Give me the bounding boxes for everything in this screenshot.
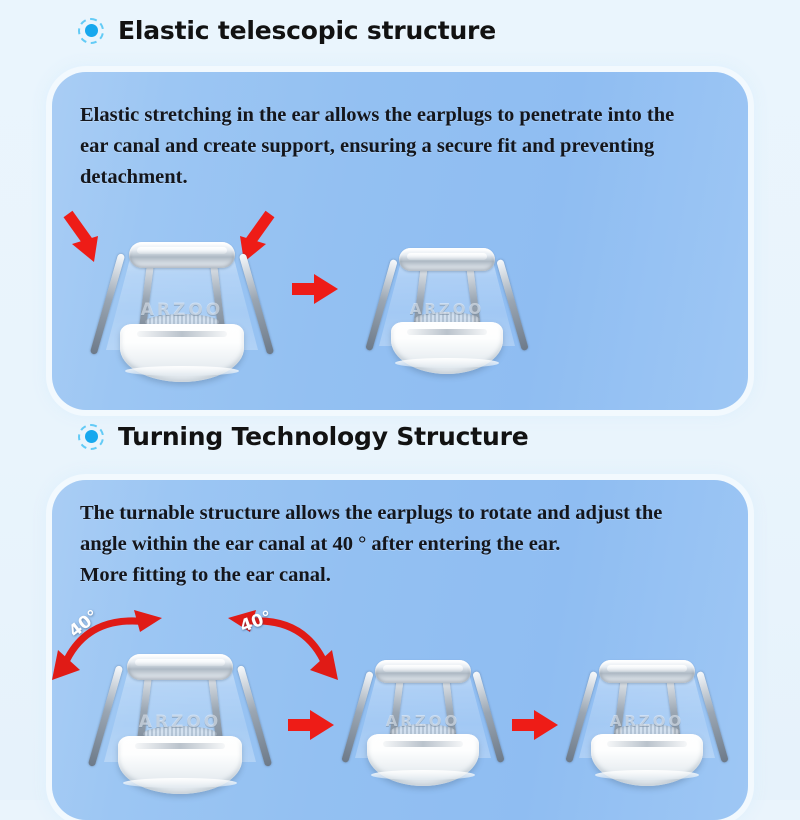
radio-dot-icon	[78, 18, 104, 44]
radio-dot-icon	[78, 424, 104, 450]
radio-dot-center	[85, 430, 98, 443]
section-1-illustration: ARZOO ARZOO	[52, 212, 748, 410]
product-earplug-expanded: ARZOO	[98, 240, 266, 386]
earplug-base	[591, 734, 703, 786]
section-1-body-line-2: ear canal and create support, ensuring a…	[80, 131, 726, 162]
section-2-body-line-1: The turnable structure allows the earplu…	[80, 498, 726, 529]
section-2-body: The turnable structure allows the earplu…	[80, 498, 726, 591]
silicone-top-rim	[599, 660, 695, 683]
arrow-head	[534, 710, 558, 740]
arrow-right-icon-1	[288, 710, 334, 740]
silicone-top-rim	[129, 242, 235, 268]
section-2-body-line-3: More fitting to the ear canal.	[80, 560, 726, 591]
section-1-panel: Elastic stretching in the ear allows the…	[52, 72, 748, 410]
section-2-heading: Turning Technology Structure	[78, 422, 528, 451]
earplug-base	[367, 734, 479, 786]
radio-dot-center	[85, 24, 98, 37]
earplug-base	[120, 324, 244, 382]
silicone-top-rim	[399, 248, 495, 271]
silicone-top-rim	[375, 660, 471, 683]
section-2-panel: The turnable structure allows the earplu…	[52, 480, 748, 820]
product-earplug-neutral: ARZOO	[96, 652, 264, 798]
product-earplug-tilted-right: ARZOO	[572, 658, 722, 790]
section-2-illustration: 40° 40° ARZOO	[52, 600, 748, 820]
earplug-base	[391, 322, 503, 374]
section-1-body-line-3: detachment.	[80, 162, 726, 193]
arrow-head	[310, 710, 334, 740]
product-earplug-compressed: ARZOO	[372, 246, 522, 378]
silicone-top-rim	[127, 654, 233, 680]
arrow-head	[314, 274, 338, 304]
earplug-base	[118, 736, 242, 794]
section-2-heading-text: Turning Technology Structure	[118, 422, 528, 451]
section-1-heading: Elastic telescopic structure	[78, 16, 496, 45]
arrow-right-icon-2	[512, 710, 558, 740]
section-1-heading-text: Elastic telescopic structure	[118, 16, 496, 45]
arrow-right-icon	[292, 274, 338, 304]
section-1-body-line-1: Elastic stretching in the ear allows the…	[80, 100, 726, 131]
section-1-body: Elastic stretching in the ear allows the…	[80, 100, 726, 193]
product-earplug-tilted-left: ARZOO	[348, 658, 498, 790]
section-2-body-line-2: angle within the ear canal at 40 ° after…	[80, 529, 726, 560]
infographic-page: Elastic telescopic structure Elastic str…	[0, 0, 800, 800]
